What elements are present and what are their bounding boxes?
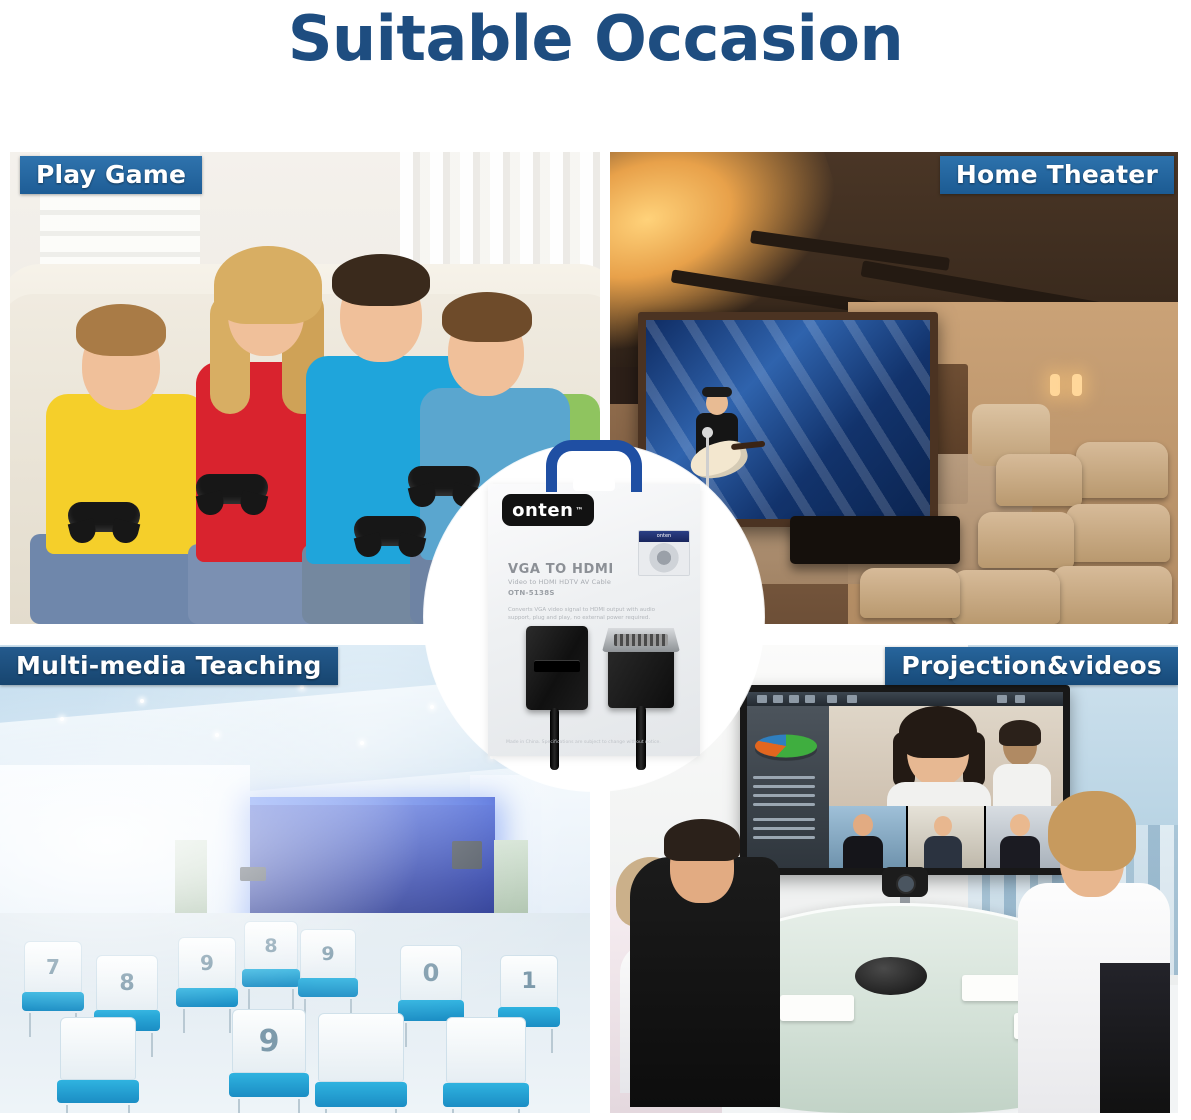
badge-graphic xyxy=(639,542,689,576)
chair-seat xyxy=(443,1083,529,1107)
chair-seat xyxy=(176,988,239,1007)
chair-number: 0 xyxy=(400,945,462,1001)
trademark-symbol: ™ xyxy=(575,506,584,515)
sidebar-panel xyxy=(747,706,829,868)
chair-legs xyxy=(183,1009,232,1033)
hdmi-adapter xyxy=(526,626,588,710)
panel-label-home-theater: Home Theater xyxy=(940,156,1174,194)
application-toolbar xyxy=(747,692,1063,706)
lecture-chair xyxy=(446,1017,526,1111)
speaker xyxy=(452,841,482,869)
lecture-chair: 9 xyxy=(232,1009,306,1101)
participant-thumbnail xyxy=(908,806,985,868)
hat xyxy=(702,387,732,397)
product-package: onten™ onten VGA TO HDMI Video to HDMI H… xyxy=(488,484,700,756)
person-woman-right xyxy=(1010,813,1170,1113)
dark-jacket xyxy=(1100,963,1170,1113)
game-controller xyxy=(68,502,140,532)
chair-number: 8 xyxy=(244,921,298,970)
ceiling-light xyxy=(140,699,144,703)
wall-sconce xyxy=(1050,374,1060,396)
product-model: OTN-5138S xyxy=(508,589,555,597)
game-controller xyxy=(354,516,426,546)
hair xyxy=(1048,791,1136,871)
chair-seat xyxy=(242,969,300,987)
game-controller xyxy=(196,474,268,504)
brand-logo: onten™ xyxy=(502,494,594,526)
package-footer-text: Made in China. Specifications are subjec… xyxy=(506,739,682,746)
chair-legs xyxy=(325,1109,397,1113)
badge-label: onten xyxy=(639,531,689,542)
chair-legs xyxy=(238,1099,300,1113)
chair-seat xyxy=(229,1073,309,1097)
hair xyxy=(332,254,430,306)
ceiling-light xyxy=(60,717,64,721)
chair-number: 9 xyxy=(178,937,236,989)
hang-tag-handle xyxy=(546,440,642,492)
hair xyxy=(899,706,977,758)
ceiling-light xyxy=(300,685,304,689)
panel-label-play-game: Play Game xyxy=(20,156,202,194)
chair-number: 9 xyxy=(232,1009,306,1073)
product-subtitle: Video to HDMI HDTV AV Cable xyxy=(508,578,611,586)
recliner-seat xyxy=(860,568,960,618)
brand-name: onten xyxy=(512,500,573,521)
recliner-seat xyxy=(952,570,1060,624)
chair-seat xyxy=(298,978,358,997)
recliner-seat xyxy=(996,454,1082,506)
vga-cable xyxy=(636,706,646,770)
badge-header: onten xyxy=(639,531,689,542)
chair-seat xyxy=(315,1082,408,1107)
second-participant xyxy=(991,720,1053,818)
speaker xyxy=(240,867,266,881)
recliner-seat xyxy=(1076,442,1168,498)
chair-seat xyxy=(57,1080,139,1103)
wall-sconce xyxy=(1072,374,1082,396)
certification-badge: onten xyxy=(638,530,690,576)
lecture-chair: 7 xyxy=(24,941,82,1015)
panel-label-projection-and-videos: Projection&videos xyxy=(885,647,1178,685)
product-photo xyxy=(488,626,700,734)
lecture-chair: 9 xyxy=(178,937,236,1011)
page-title: Suitable Occasion xyxy=(0,2,1191,75)
chair-legs xyxy=(452,1109,519,1113)
recliner-seat xyxy=(1052,566,1172,624)
speakerphone xyxy=(855,957,927,995)
chair-number xyxy=(446,1017,526,1083)
door-left xyxy=(175,840,207,920)
vga-pins xyxy=(614,634,668,646)
lecture-chair xyxy=(318,1013,404,1111)
main-video-tile xyxy=(829,706,1063,818)
hair xyxy=(664,819,740,861)
lecture-chair: 8 xyxy=(244,921,298,991)
lecture-chair: 9 xyxy=(300,929,356,1001)
chair-seat xyxy=(22,992,85,1011)
chair-number xyxy=(318,1013,404,1082)
chair-number: 1 xyxy=(500,955,558,1008)
panel-label-multimedia-teaching: Multi-media Teaching xyxy=(0,647,338,685)
participant-thumbnail xyxy=(829,806,906,868)
lecture-chair: 0 xyxy=(400,945,462,1025)
hair xyxy=(442,292,532,342)
product-callout-circle: onten™ onten VGA TO HDMI Video to HDMI H… xyxy=(424,443,764,791)
chair-number xyxy=(60,1017,136,1080)
recliner-seat xyxy=(978,512,1074,568)
conference-webcam xyxy=(882,867,928,897)
product-description: Converts VGA video signal to HDMI output… xyxy=(508,606,658,622)
ceiling-light xyxy=(215,733,219,737)
ceiling-light xyxy=(430,705,434,709)
hair xyxy=(214,246,322,324)
chair-number: 9 xyxy=(300,929,356,979)
chair-number: 7 xyxy=(24,941,82,993)
coffee-table xyxy=(790,516,960,564)
chair-number: 8 xyxy=(96,955,158,1011)
pie-chart-icon xyxy=(755,735,817,758)
chair-legs xyxy=(66,1105,130,1113)
notepad xyxy=(780,995,854,1021)
hair xyxy=(76,304,166,356)
product-title: VGA TO HDMI xyxy=(508,562,614,577)
lecture-chair xyxy=(60,1017,136,1107)
door-right xyxy=(494,840,528,922)
ceiling-light xyxy=(360,741,364,745)
game-controller xyxy=(408,466,480,496)
recliner-seat xyxy=(1066,504,1170,562)
